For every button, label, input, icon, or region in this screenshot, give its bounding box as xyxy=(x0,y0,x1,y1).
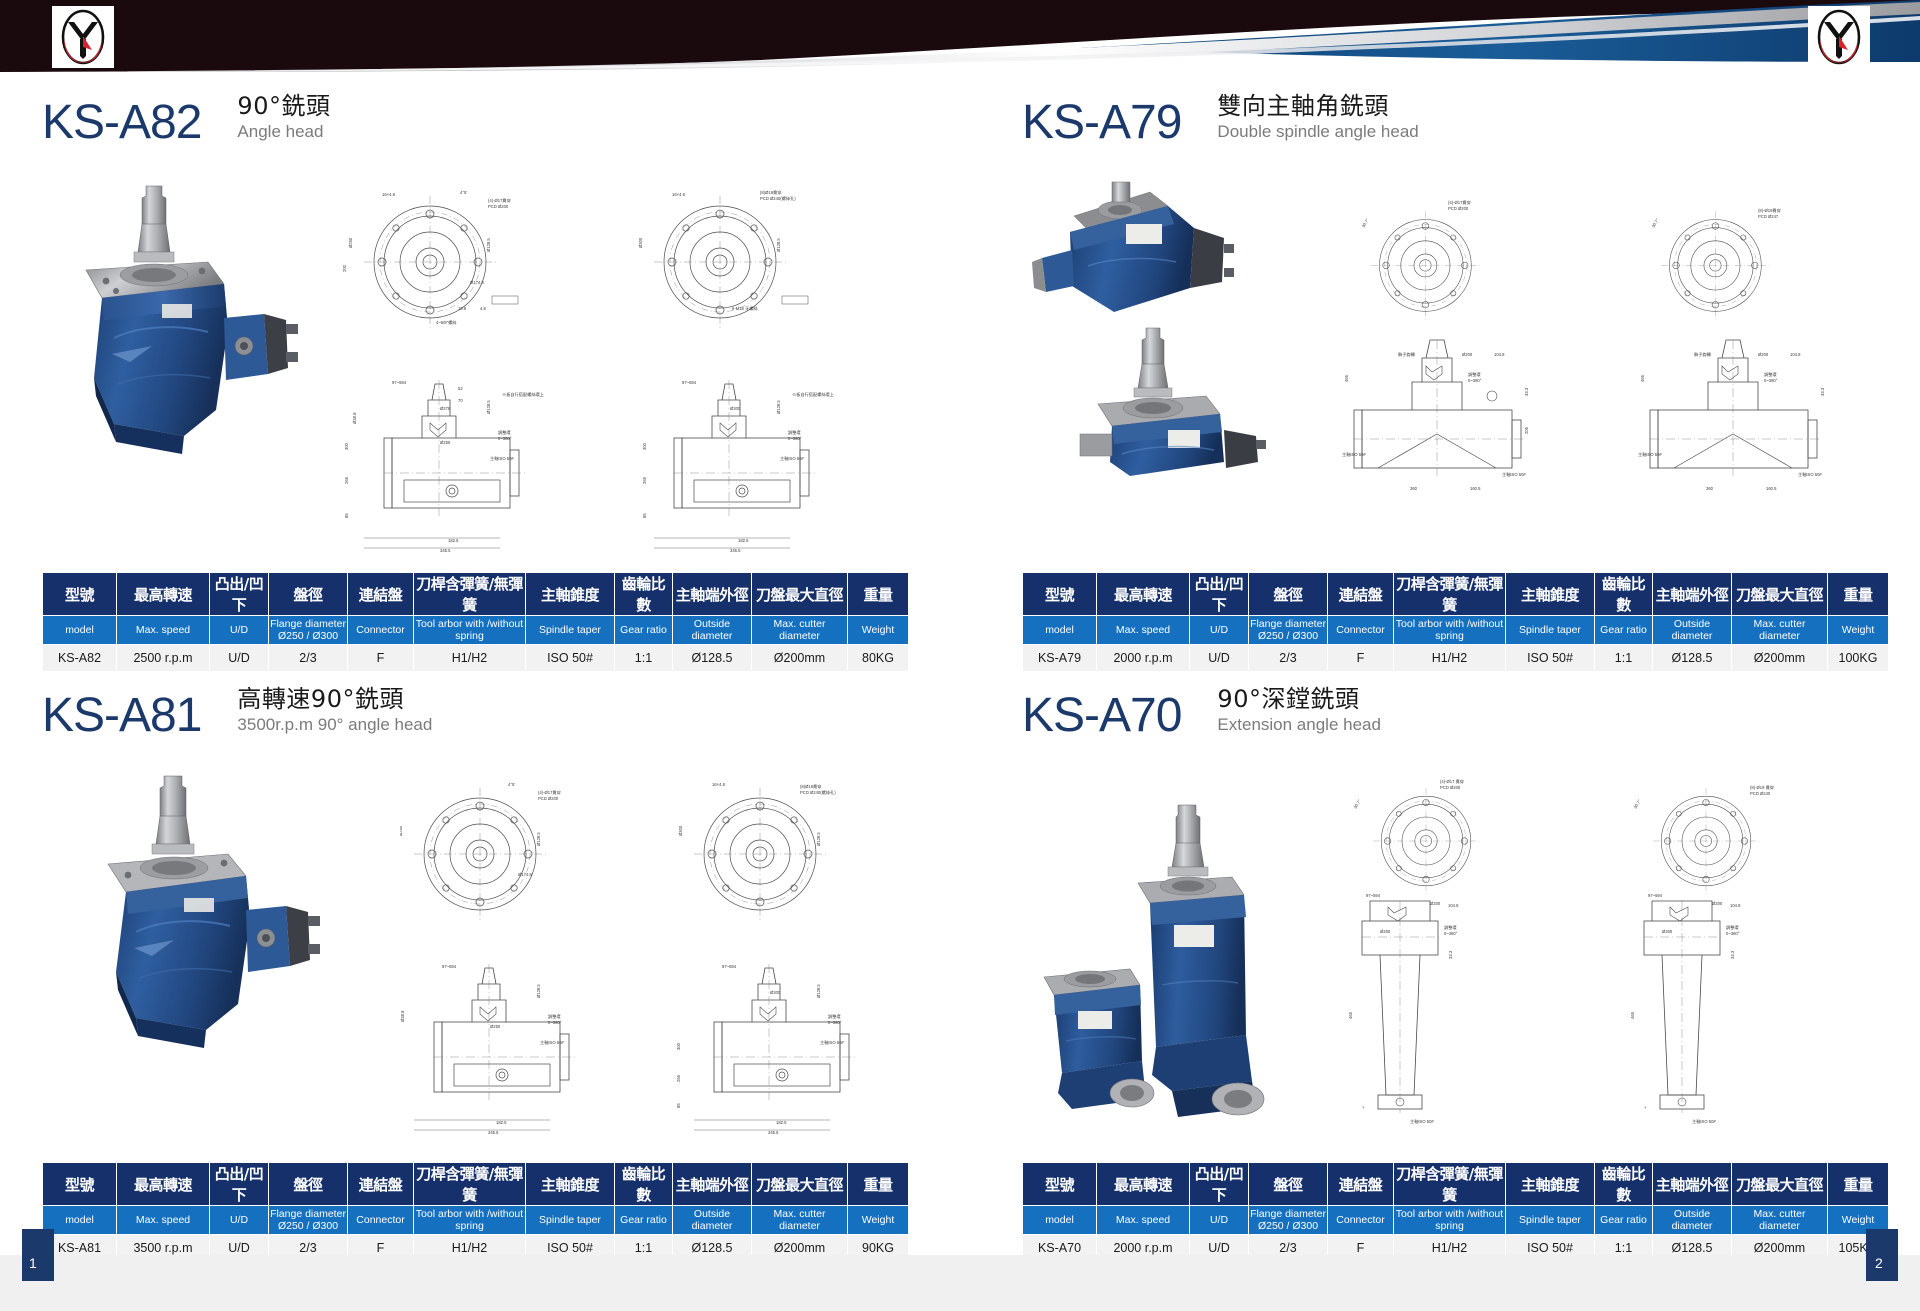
svg-text:主軸ISO 50#: 主軸ISO 50# xyxy=(1410,1118,1434,1125)
svg-text:主軸ISO 50#: 主軸ISO 50# xyxy=(540,1039,564,1046)
svg-text:Ø128.5: Ø128.5 xyxy=(486,400,491,414)
th-en-connector: Connector xyxy=(1328,616,1394,645)
svg-text:Ø200: Ø200 xyxy=(1462,352,1473,357)
svg-text:PCD Ø247: PCD Ø247 xyxy=(1758,214,1779,219)
svg-text:4.8: 4.8 xyxy=(480,306,486,311)
th-cn-outside-diameter: 主軸端外徑 xyxy=(1653,1163,1732,1206)
product-title-cn: 90°深鏜銑頭 xyxy=(1217,685,1381,713)
th-en-spindle-taper: Spindle taper xyxy=(526,616,615,645)
th-cn-model: 型號 xyxy=(43,1163,117,1206)
svg-text:33.3: 33.3 xyxy=(1820,387,1825,396)
th-cn-gear-ratio: 齒輪比數 xyxy=(615,1163,673,1206)
page-number-right: 2 xyxy=(1866,1229,1898,1281)
svg-text:PCD Ø200: PCD Ø200 xyxy=(1448,206,1469,211)
svg-text:Ø38.8: Ø38.8 xyxy=(352,412,357,424)
svg-text:300: 300 xyxy=(400,1042,401,1050)
spec-header-en-row: model Max. speed U/D Flange diameter Ø25… xyxy=(43,616,909,645)
svg-text:265: 265 xyxy=(400,1074,401,1082)
svg-text:182.5: 182.5 xyxy=(738,538,749,543)
th-cn-connector: 連結盤 xyxy=(348,573,414,616)
svg-text:300: 300 xyxy=(344,442,349,450)
th-en-gear-ratio: Gear ratio xyxy=(1595,616,1653,645)
svg-text:+: + xyxy=(1644,1105,1647,1110)
product-block-ks-a81: KS-A81 高轉速90°銑頭 3500r.p.m 90° angle head xyxy=(42,685,942,739)
product-block-ks-a70: KS-A70 90°深鏜銑頭 Extension angle head xyxy=(1022,685,1902,739)
svg-text:97~594: 97~594 xyxy=(722,964,737,969)
svg-text:Ø128.5: Ø128.5 xyxy=(536,832,541,846)
th-cn-connector: 連結盤 xyxy=(1328,573,1394,616)
th-cn-spindle-taper: 主軸錐度 xyxy=(526,1163,615,1206)
svg-text:PCD Ø240: PCD Ø240 xyxy=(1750,791,1771,796)
svg-text:0~360°: 0~360° xyxy=(1764,378,1778,383)
company-logo-icon-secondary xyxy=(1808,6,1870,68)
svg-text:主軸ISO 50#: 主軸ISO 50# xyxy=(490,455,514,462)
product-photo-ks-a82 xyxy=(58,178,308,468)
spec-table-ks-a82: 型號 最高轉速 凸出/凹下 盤徑 連結盤 刀桿含彈簧/無彈簧 主軸錐度 齒輪比數… xyxy=(42,572,909,672)
svg-text:調整環: 調整環 xyxy=(828,1013,841,1020)
svg-text:104.8: 104.8 xyxy=(1448,903,1459,908)
th-cn-spindle-taper: 主軸錐度 xyxy=(526,573,615,616)
th-cn-max-cutter-diameter: 刀盤最大直徑 xyxy=(1732,573,1828,616)
th-cn-max-speed: 最高轉速 xyxy=(1097,1163,1190,1206)
svg-text:駒子旋轉: 駒子旋轉 xyxy=(1694,351,1712,358)
spec-header-cn-row: 型號 最高轉速 凸出/凹下 盤徑 連結盤 刀桿含彈簧/無彈簧 主軸錐度 齒輪比數… xyxy=(43,1163,909,1206)
th-en-gear-ratio: Gear ratio xyxy=(615,616,673,645)
svg-text:Ø300: Ø300 xyxy=(1662,929,1673,934)
svg-text:主軸ISO 50#: 主軸ISO 50# xyxy=(820,1039,844,1046)
svg-text:Ø300: Ø300 xyxy=(770,990,781,995)
page-footer: 1 2 xyxy=(0,1229,1920,1311)
svg-text:70: 70 xyxy=(458,398,463,403)
cell-spindle-taper: ISO 50# xyxy=(526,645,615,672)
svg-text:主軸ISO 50#: 主軸ISO 50# xyxy=(1692,1118,1716,1125)
product-block-ks-a79: KS-A79 雙向主軸角銑頭 Double spindle angle head xyxy=(1022,92,1902,146)
th-cn-tool-arbor: 刀桿含彈簧/無彈簧 xyxy=(414,1163,526,1206)
product-model-code: KS-A81 xyxy=(42,693,201,739)
product-title-en: Extension angle head xyxy=(1217,714,1381,735)
svg-text:30.7°: 30.7° xyxy=(1361,217,1370,228)
svg-text:16×4.8: 16×4.8 xyxy=(672,192,686,197)
cell-flange-diameter: 2/3 xyxy=(1249,645,1328,672)
svg-text:160.5: 160.5 xyxy=(1766,486,1777,491)
svg-text:0~360°: 0~360° xyxy=(828,1020,842,1025)
th-cn-weight: 重量 xyxy=(848,1163,909,1206)
product-title-row: KS-A70 90°深鏜銑頭 Extension angle head xyxy=(1022,685,1902,739)
svg-text:PCD Ø200: PCD Ø200 xyxy=(488,204,509,209)
svg-text:300: 300 xyxy=(642,442,647,450)
th-cn-weight: 重量 xyxy=(1828,573,1889,616)
cell-ud: U/D xyxy=(210,645,269,672)
th-en-max-cutter-diameter: Max. cutter diameter xyxy=(1732,616,1828,645)
svg-text:(8)-Ø19 貫穿: (8)-Ø19 貫穿 xyxy=(1750,784,1774,791)
svg-text:調整環: 調整環 xyxy=(498,429,511,436)
svg-text:(4)-Ø17貫穿: (4)-Ø17貫穿 xyxy=(1448,199,1471,206)
svg-text:駒子旋轉: 駒子旋轉 xyxy=(1398,351,1416,358)
th-en-tool-arbor: Tool arbor with /without spring xyxy=(1394,616,1506,645)
svg-text:0~360°: 0~360° xyxy=(1726,931,1740,936)
svg-text:※板自行搭配螺絲環上: ※板自行搭配螺絲環上 xyxy=(502,391,544,398)
page-number-left-label: 1 xyxy=(29,1255,37,1271)
cell-spindle-taper: ISO 50# xyxy=(1506,645,1595,672)
cell-model: KS-A79 xyxy=(1023,645,1097,672)
svg-text:33.3: 33.3 xyxy=(1524,387,1529,396)
svg-text:85: 85 xyxy=(344,513,349,518)
th-cn-weight: 重量 xyxy=(848,573,909,616)
cell-tool-arbor: H1/H2 xyxy=(414,645,526,672)
svg-text:97~594: 97~594 xyxy=(442,964,457,969)
product-model-code: KS-A79 xyxy=(1022,100,1181,146)
product-model-code: KS-A82 xyxy=(42,100,201,146)
svg-text:主軸ISO 50#: 主軸ISO 50# xyxy=(1342,451,1366,458)
cell-tool-arbor: H1/H2 xyxy=(1394,645,1506,672)
svg-text:265: 265 xyxy=(344,476,349,484)
svg-text:調整環: 調整環 xyxy=(548,1013,561,1020)
svg-text:0~360°: 0~360° xyxy=(1444,931,1458,936)
th-cn-max-cutter-diameter: 刀盤最大直徑 xyxy=(752,573,848,616)
svg-text:PCD Ø200: PCD Ø200 xyxy=(538,796,559,801)
table-row: KS-A82 2500 r.p.m U/D 2/3 F H1/H2 ISO 50… xyxy=(43,645,909,672)
svg-text:97~594: 97~594 xyxy=(1648,893,1663,898)
svg-text:Ø200: Ø200 xyxy=(1758,352,1769,357)
product-title-row: KS-A82 90°銑頭 Angle head xyxy=(42,92,942,146)
svg-text:345.5: 345.5 xyxy=(440,548,451,553)
svg-text:(4)-Ø17 貫穿: (4)-Ø17 貫穿 xyxy=(1440,778,1464,785)
svg-text:Ø200: Ø200 xyxy=(1712,901,1723,906)
spec-header-cn-row: 型號 最高轉速 凸出/凹下 盤徑 連結盤 刀桿含彈簧/無彈簧 主軸錐度 齒輪比數… xyxy=(43,573,909,616)
th-en-model: model xyxy=(1023,616,1097,645)
cell-weight: 100KG xyxy=(1828,645,1889,672)
svg-text:33.3: 33.3 xyxy=(1730,950,1735,959)
svg-text:200: 200 xyxy=(342,264,347,272)
svg-text:85: 85 xyxy=(400,1103,401,1108)
cell-model: KS-A82 xyxy=(43,645,117,672)
svg-text:Ø174.8: Ø174.8 xyxy=(518,872,532,877)
product-title-en: Double spindle angle head xyxy=(1217,121,1418,142)
th-en-outside-diameter: Outside diameter xyxy=(673,616,752,645)
svg-text:6-M18 牙螺絲: 6-M18 牙螺絲 xyxy=(732,305,758,312)
svg-text:Ø128.5: Ø128.5 xyxy=(536,984,541,998)
svg-text:16×4.8: 16×4.8 xyxy=(712,782,726,787)
spec-table-wrap-ks-a79: 型號 最高轉速 凸出/凹下 盤徑 連結盤 刀桿含彈簧/無彈簧 主軸錐度 齒輪比數… xyxy=(1022,572,1889,672)
svg-text:4°5': 4°5' xyxy=(460,190,467,195)
cell-max-cutter-diameter: Ø200mm xyxy=(1732,645,1828,672)
product-photo-ks-a70 xyxy=(1020,785,1300,1135)
th-cn-flange-diameter: 盤徑 xyxy=(1249,1163,1328,1206)
cell-flange-diameter: 2/3 xyxy=(269,645,348,672)
svg-text:4°5': 4°5' xyxy=(508,782,515,787)
svg-text:Ø128.5: Ø128.5 xyxy=(816,984,821,998)
svg-text:Ø128.5: Ø128.5 xyxy=(776,400,781,414)
th-cn-model: 型號 xyxy=(43,573,117,616)
page-number-left: 1 xyxy=(22,1229,54,1281)
th-cn-flange-diameter: 盤徑 xyxy=(1249,573,1328,616)
svg-text:345.5: 345.5 xyxy=(488,1130,499,1135)
cell-connector: F xyxy=(1328,645,1394,672)
product-block-ks-a82: KS-A82 90°銑頭 Angle head xyxy=(42,92,942,146)
th-en-model: model xyxy=(43,616,117,645)
svg-text:(8)Ø19貫穿: (8)Ø19貫穿 xyxy=(800,783,821,790)
cell-outside-diameter: Ø128.5 xyxy=(1653,645,1732,672)
cell-max-cutter-diameter: Ø200mm xyxy=(752,645,848,672)
svg-text:PCD Ø240(螺絲孔): PCD Ø240(螺絲孔) xyxy=(800,789,836,796)
th-cn-model: 型號 xyxy=(1023,1163,1097,1206)
th-cn-max-speed: 最高轉速 xyxy=(1097,573,1190,616)
th-cn-max-cutter-diameter: 刀盤最大直徑 xyxy=(752,1163,848,1206)
cell-max-speed: 2000 r.p.m xyxy=(1097,645,1190,672)
svg-text:Ø300: Ø300 xyxy=(638,237,643,248)
svg-text:0~360°: 0~360° xyxy=(1468,378,1482,383)
svg-text:Ø128.5: Ø128.5 xyxy=(776,238,781,252)
spec-header-cn-row: 型號 最高轉速 凸出/凹下 盤徑 連結盤 刀桿含彈簧/無彈簧 主軸錐度 齒輪比數… xyxy=(1023,573,1889,616)
th-cn-weight: 重量 xyxy=(1828,1163,1889,1206)
svg-text:主軸ISO 50#: 主軸ISO 50# xyxy=(1502,471,1526,478)
th-cn-tool-arbor: 刀桿含彈簧/無彈簧 xyxy=(1394,1163,1506,1206)
spec-header-en-row: model Max. speed U/D Flange diameter Ø25… xyxy=(1023,616,1889,645)
svg-text:Ø200: Ø200 xyxy=(1430,901,1441,906)
product-photo-ks-a81 xyxy=(78,768,328,1058)
th-cn-max-cutter-diameter: 刀盤最大直徑 xyxy=(1732,1163,1828,1206)
th-cn-ud: 凸出/凹下 xyxy=(210,573,269,616)
spec-header-cn-row: 型號 最高轉速 凸出/凹下 盤徑 連結盤 刀桿含彈簧/無彈簧 主軸錐度 齒輪比數… xyxy=(1023,1163,1889,1206)
svg-text:182.5: 182.5 xyxy=(496,1120,507,1125)
svg-text:調整環: 調整環 xyxy=(1726,924,1739,931)
th-cn-ud: 凸出/凹下 xyxy=(210,1163,269,1206)
svg-text:16×4.8: 16×4.8 xyxy=(382,192,396,197)
svg-text:265: 265 xyxy=(642,476,647,484)
cell-connector: F xyxy=(348,645,414,672)
svg-text:104.8: 104.8 xyxy=(1730,903,1741,908)
svg-text:※板自行搭配螺絲環上: ※板自行搭配螺絲環上 xyxy=(792,391,834,398)
svg-text:Ø300: Ø300 xyxy=(678,825,683,836)
svg-text:265: 265 xyxy=(676,1074,681,1082)
cell-outside-diameter: Ø128.5 xyxy=(673,645,752,672)
th-cn-tool-arbor: 刀桿含彈簧/無彈簧 xyxy=(414,573,526,616)
svg-text:Ø128.5: Ø128.5 xyxy=(816,832,821,846)
svg-text:(4)-Ø17貫穿: (4)-Ø17貫穿 xyxy=(488,197,511,204)
th-cn-spindle-taper: 主軸錐度 xyxy=(1506,1163,1595,1206)
cell-weight: 80KG xyxy=(848,645,909,672)
svg-text:465: 465 xyxy=(1630,1011,1635,1019)
svg-text:10.8: 10.8 xyxy=(458,306,467,311)
footer-bar xyxy=(0,1255,1920,1311)
svg-text:(8)Ø19貫穿: (8)Ø19貫穿 xyxy=(760,189,781,196)
svg-text:+: + xyxy=(1362,1105,1365,1110)
th-cn-connector: 連結盤 xyxy=(1328,1163,1394,1206)
technical-drawing-ks-a70: (4)-Ø17 貫穿 PCD Ø200 30.7° (8)-Ø19 貫穿 PCD… xyxy=(1320,775,1900,1145)
th-cn-flange-diameter: 盤徑 xyxy=(269,573,348,616)
technical-drawing-ks-a82: 16×4.8 4°5' (4)-Ø17貫穿 PCD Ø200 Ø250 200 … xyxy=(340,188,940,558)
svg-text:Ø250: Ø250 xyxy=(348,237,353,248)
page-banner xyxy=(0,0,1920,72)
svg-text:360: 360 xyxy=(1706,486,1714,491)
th-cn-ud: 凸出/凹下 xyxy=(1190,1163,1249,1206)
th-cn-ud: 凸出/凹下 xyxy=(1190,573,1249,616)
product-title-row: KS-A79 雙向主軸角銑頭 Double spindle angle head xyxy=(1022,92,1902,146)
svg-text:(4)-Ø17貫穿: (4)-Ø17貫穿 xyxy=(538,789,561,796)
svg-text:調整環: 調整環 xyxy=(788,429,801,436)
svg-text:300: 300 xyxy=(676,1042,681,1050)
svg-text:52: 52 xyxy=(458,386,463,391)
table-row: KS-A79 2000 r.p.m U/D 2/3 F H1/H2 ISO 50… xyxy=(1023,645,1889,672)
product-title-cn: 高轉速90°銑頭 xyxy=(237,685,432,713)
cell-max-speed: 2500 r.p.m xyxy=(117,645,210,672)
svg-text:Ø250: Ø250 xyxy=(490,1024,501,1029)
svg-text:97~594: 97~594 xyxy=(392,380,407,385)
th-en-max-speed: Max. speed xyxy=(117,616,210,645)
svg-text:160.5: 160.5 xyxy=(1470,486,1481,491)
svg-text:Ø128.5: Ø128.5 xyxy=(486,238,491,252)
svg-text:主軸ISO 50#: 主軸ISO 50# xyxy=(1798,471,1822,478)
th-en-max-speed: Max. speed xyxy=(1097,616,1190,645)
th-cn-tool-arbor: 刀桿含彈簧/無彈簧 xyxy=(1394,573,1506,616)
th-en-outside-diameter: Outside diameter xyxy=(1653,616,1732,645)
svg-text:33.3: 33.3 xyxy=(1448,950,1453,959)
product-title-cn: 90°銑頭 xyxy=(237,92,330,120)
svg-text:30.7°: 30.7° xyxy=(1651,217,1660,228)
svg-text:182.5: 182.5 xyxy=(776,1120,787,1125)
th-cn-outside-diameter: 主軸端外徑 xyxy=(673,1163,752,1206)
svg-text:345.5: 345.5 xyxy=(768,1130,779,1135)
svg-text:360: 360 xyxy=(1410,486,1418,491)
product-title-en: 3500r.p.m 90° angle head xyxy=(237,714,432,735)
technical-drawing-ks-a79: (4)-Ø17貫穿 PCD Ø200 30.7° (8)-Ø19貫穿 PCD Ø… xyxy=(1318,188,1898,558)
svg-text:465: 465 xyxy=(1344,374,1349,382)
svg-text:0~360°: 0~360° xyxy=(548,1020,562,1025)
th-en-max-cutter-diameter: Max. cutter diameter xyxy=(752,616,848,645)
product-title-en: Angle head xyxy=(237,121,330,142)
cell-gear-ratio: 1:1 xyxy=(1595,645,1653,672)
th-en-weight: Weight xyxy=(1828,616,1889,645)
product-title-cn: 雙向主軸角銑頭 xyxy=(1217,92,1418,120)
th-cn-gear-ratio: 齒輪比數 xyxy=(615,573,673,616)
svg-text:104.8: 104.8 xyxy=(1494,352,1505,357)
spec-table-ks-a79: 型號 最高轉速 凸出/凹下 盤徑 連結盤 刀桿含彈簧/無彈簧 主軸錐度 齒輪比數… xyxy=(1022,572,1889,672)
svg-text:0~360°: 0~360° xyxy=(788,436,802,441)
th-en-flange-diameter: Flange diameter Ø250 / Ø300 xyxy=(1249,616,1328,645)
th-cn-max-speed: 最高轉速 xyxy=(117,1163,210,1206)
svg-text:345.5: 345.5 xyxy=(730,548,741,553)
svg-text:PCD Ø200: PCD Ø200 xyxy=(1440,785,1461,790)
svg-text:4~5/8"螺絲: 4~5/8"螺絲 xyxy=(436,319,457,326)
product-model-code: KS-A70 xyxy=(1022,693,1181,739)
th-cn-max-speed: 最高轉速 xyxy=(117,573,210,616)
company-logo-icon xyxy=(52,6,114,68)
svg-text:205: 205 xyxy=(1524,426,1529,434)
svg-text:104.8: 104.8 xyxy=(1790,352,1801,357)
th-cn-outside-diameter: 主軸端外徑 xyxy=(1653,573,1732,616)
svg-text:97~594: 97~594 xyxy=(1366,893,1381,898)
th-cn-gear-ratio: 齒輪比數 xyxy=(1595,1163,1653,1206)
th-en-ud: U/D xyxy=(1190,616,1249,645)
th-en-weight: Weight xyxy=(848,616,909,645)
technical-drawing-ks-a81: 4°5' (4)-Ø17貫穿 PCD Ø200 Ø250 Ø128.5 Ø174… xyxy=(400,778,960,1138)
svg-text:調整環: 調整環 xyxy=(1468,371,1481,378)
th-cn-model: 型號 xyxy=(1023,573,1097,616)
svg-text:Ø250: Ø250 xyxy=(440,440,451,445)
svg-text:Ø174.8: Ø174.8 xyxy=(470,280,484,285)
svg-text:主軸ISO 50#: 主軸ISO 50# xyxy=(1638,451,1662,458)
th-en-flange-diameter: Flange diameter Ø250 / Ø300 xyxy=(269,616,348,645)
th-en-connector: Connector xyxy=(348,616,414,645)
th-en-ud: U/D xyxy=(210,616,269,645)
svg-text:調整環: 調整環 xyxy=(1444,924,1457,931)
svg-text:30.7°: 30.7° xyxy=(1633,798,1642,809)
th-cn-connector: 連結盤 xyxy=(348,1163,414,1206)
svg-text:30.7°: 30.7° xyxy=(1353,798,1362,809)
svg-text:465: 465 xyxy=(1348,1011,1353,1019)
svg-text:0~360°: 0~360° xyxy=(498,436,512,441)
th-cn-spindle-taper: 主軸錐度 xyxy=(1506,573,1595,616)
svg-text:Ø300: Ø300 xyxy=(730,406,741,411)
th-cn-outside-diameter: 主軸端外徑 xyxy=(673,573,752,616)
th-cn-gear-ratio: 齒輪比數 xyxy=(1595,573,1653,616)
svg-text:主軸ISO 50#: 主軸ISO 50# xyxy=(780,455,804,462)
product-photo-ks-a79 xyxy=(1018,180,1308,480)
svg-text:85: 85 xyxy=(676,1103,681,1108)
page-number-right-label: 2 xyxy=(1875,1255,1883,1271)
svg-text:PCD Ø240(螺絲孔): PCD Ø240(螺絲孔) xyxy=(760,195,796,202)
svg-text:85: 85 xyxy=(642,513,647,518)
th-cn-flange-diameter: 盤徑 xyxy=(269,1163,348,1206)
svg-text:97~594: 97~594 xyxy=(682,380,697,385)
product-title-row: KS-A81 高轉速90°銑頭 3500r.p.m 90° angle head xyxy=(42,685,942,739)
th-en-spindle-taper: Spindle taper xyxy=(1506,616,1595,645)
svg-text:(8)-Ø19貫穿: (8)-Ø19貫穿 xyxy=(1758,207,1781,214)
svg-text:182.5: 182.5 xyxy=(448,538,459,543)
th-en-tool-arbor: Tool arbor with /without spring xyxy=(414,616,526,645)
cell-gear-ratio: 1:1 xyxy=(615,645,673,672)
svg-text:Ø250: Ø250 xyxy=(400,825,403,836)
svg-text:465: 465 xyxy=(1640,374,1645,382)
spec-table-wrap-ks-a82: 型號 最高轉速 凸出/凹下 盤徑 連結盤 刀桿含彈簧/無彈簧 主軸錐度 齒輪比數… xyxy=(42,572,909,672)
cell-ud: U/D xyxy=(1190,645,1249,672)
svg-text:Ø278: Ø278 xyxy=(440,406,451,411)
svg-text:調整環: 調整環 xyxy=(1764,371,1777,378)
svg-text:Ø250: Ø250 xyxy=(1380,929,1391,934)
svg-text:Ø38.8: Ø38.8 xyxy=(400,1010,405,1022)
